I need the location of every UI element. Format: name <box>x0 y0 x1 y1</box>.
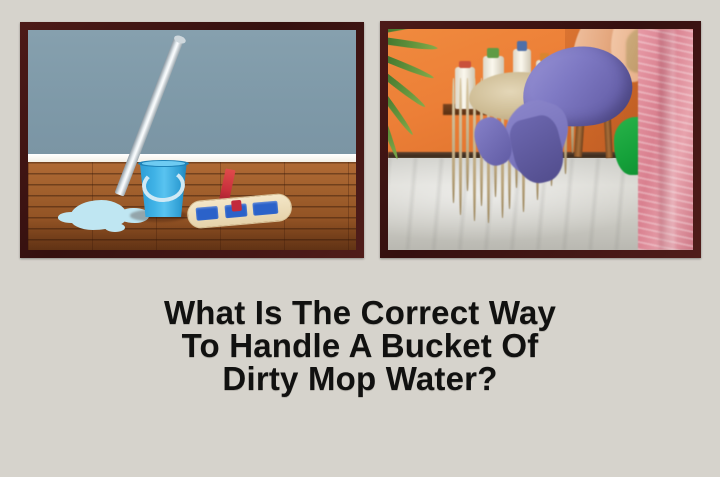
caption-line-2: To Handle A Bucket Of <box>0 329 720 362</box>
puddle-blob-left <box>58 212 86 223</box>
bottle-cap <box>487 48 499 58</box>
mop-bucket <box>138 160 189 217</box>
mop-strand <box>459 78 462 215</box>
mop-pad-clip <box>231 200 241 212</box>
poster-caption: What Is The Correct Way To Handle A Buck… <box>0 296 720 395</box>
right-image-frame <box>380 21 701 258</box>
bottle-cap <box>459 61 470 69</box>
mop-strand <box>466 78 469 192</box>
bucket-rim-inner <box>142 161 185 166</box>
right-photo <box>388 29 693 250</box>
mop-strand <box>452 78 455 203</box>
left-image-frame <box>20 22 364 258</box>
photo-scene <box>388 29 693 250</box>
pink-fabric-fold <box>659 29 674 250</box>
left-illustration <box>28 30 356 250</box>
illustration-wall <box>28 30 356 155</box>
bottle-cap <box>517 41 527 52</box>
caption-line-3: Dirty Mop Water? <box>0 362 720 395</box>
palm-plant <box>388 33 455 135</box>
caption-line-1: What Is The Correct Way <box>0 296 720 329</box>
puddle-droplet <box>105 223 125 232</box>
poster-canvas: What Is The Correct Way To Handle A Buck… <box>0 0 720 477</box>
mop-pad-insert-1 <box>196 206 219 221</box>
palm-frond <box>388 51 434 80</box>
palm-frond <box>388 36 438 52</box>
